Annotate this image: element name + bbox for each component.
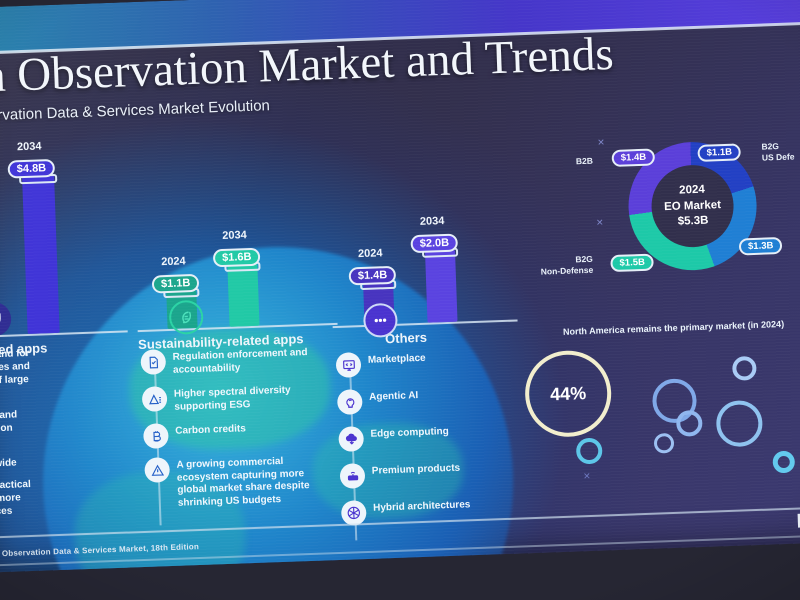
map-caption: North America remains the primary market… (563, 319, 784, 337)
donut-label-line2: Non-Defense (541, 264, 594, 276)
slide-canvas: arth Observation Market and Trends rth O… (0, 0, 800, 573)
bubble-oceania (772, 451, 795, 474)
bar-year-label: 2024 (161, 255, 186, 268)
aperture-icon (341, 500, 367, 526)
list-item: Marketplace (336, 346, 527, 378)
security-item-text: creased demand for her revisit rates and… (0, 344, 106, 402)
bar-year-label: 2034 (17, 140, 42, 153)
list-item: Higher spectral diversity supporting ESG (142, 381, 318, 415)
donut-value-b2g-non-defense: $1.5B (610, 254, 654, 273)
donut-label-line2: US Defe (762, 151, 795, 163)
donut-center-year: 2024 (679, 183, 705, 198)
bubble-north-america: 44% (524, 349, 613, 438)
device-premium-icon (340, 463, 366, 489)
decor-x-mark: ✕ (597, 137, 605, 148)
bar-year-label: 2024 (358, 247, 383, 260)
bar-group-others: 2024 $1.4B 2034 $2.0B Others (328, 193, 532, 328)
list-item-label: Edge computing (370, 423, 449, 441)
donut-value-other: $1.3B (739, 237, 783, 256)
bubble-share-label: 44% (550, 383, 587, 405)
page-subtitle: rth Observation Data & Services Market E… (0, 97, 270, 126)
list-item-label: Higher spectral diversity supporting ESG (174, 381, 318, 414)
list-item: Premium products (340, 457, 531, 489)
list-item-label: Premium products (372, 460, 461, 479)
list-item-label: Regulation enforcement and accountabilit… (172, 344, 316, 377)
security-item-text: eroperability and et orchestration (0, 405, 107, 437)
list-item-label: Hybrid architectures (373, 496, 471, 515)
bar-value-pill: $1.4B (349, 266, 397, 286)
bar-value-pill: $2.0B (410, 234, 458, 254)
donut-label-b2g-us-defense: B2G US Defe (761, 140, 794, 162)
list-item: Edge computing (338, 420, 529, 452)
bar-2034 (22, 175, 60, 334)
decor-x-mark: ✕ (583, 471, 591, 482)
security-item-text: ger defense dgets worldwide (0, 440, 108, 472)
donut-label-b2b: B2B (576, 156, 593, 167)
list-item-label: Marketplace (368, 350, 426, 368)
bar-value-pill: $1.6B (213, 248, 261, 268)
list-item-label: A growing commercial ecosystem capturing… (176, 452, 321, 510)
list-item: Agentic AI (337, 383, 528, 415)
bar-year-label: 2034 (420, 215, 445, 228)
list-item: Carbon credits (143, 418, 319, 449)
axis-baseline (0, 330, 128, 339)
bar-group-security: 2024 $2.9B 2034 $4.8B urity-related apps (0, 142, 148, 339)
alert-triangle-icon (144, 457, 170, 483)
photographed-slide: arth Observation Market and Trends rth O… (0, 0, 800, 600)
bubble-russia (732, 356, 757, 381)
document-check-icon (140, 349, 166, 375)
security-item-text: ring toward tactical rations and more ed… (0, 475, 110, 520)
donut-label-b2g-non-defense: B2G Non-Defense (540, 254, 593, 277)
donut-center-name: EO Market (664, 198, 721, 214)
list-item: A growing commercial ecosystem capturing… (144, 452, 321, 511)
list-item-label: Agentic AI (369, 387, 419, 404)
spectral-chart-icon (142, 386, 168, 412)
bar-year-label: 2034 (222, 229, 247, 242)
bar-value-pill: $1.1B (152, 274, 200, 294)
decor-x-mark: ✕ (596, 217, 604, 228)
bubble-middle-east (654, 433, 675, 454)
axis-baseline (333, 319, 518, 328)
ai-brain-icon (337, 389, 363, 415)
bubble-south-america (576, 438, 603, 465)
bubble-asia (716, 400, 764, 448)
cloud-download-icon (338, 426, 364, 452)
donut-value-b2b: $1.4B (611, 148, 655, 167)
bubble-africa (676, 410, 703, 437)
monitor-code-icon (336, 352, 362, 378)
bar-value-pill: $4.8B (7, 159, 55, 179)
bitcoin-icon (143, 423, 169, 449)
bar-2034 (425, 250, 458, 323)
bar-group-sustainability: 2024 $1.1B 2034 $1.6B Sustainability-rel… (133, 194, 353, 332)
donut-value-b2g-us-defense: $1.1B (697, 143, 741, 162)
bar-2034 (227, 264, 259, 327)
list-item: Regulation enforcement and accountabilit… (140, 344, 316, 378)
brand-logo: NOVA (796, 508, 800, 533)
donut-center-total: $5.3B (678, 214, 709, 229)
list-item-label: Carbon credits (175, 420, 246, 438)
